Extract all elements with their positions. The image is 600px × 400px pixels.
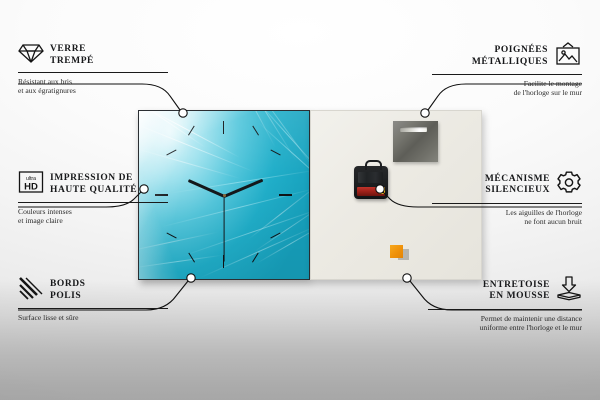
- callout-rule: [428, 309, 582, 310]
- callout-impression-haute-qualite[interactable]: ultra HD IMPRESSION DE HAUTE QUALITÉ Cou…: [18, 170, 168, 226]
- callout-title-line1: VERRE: [50, 44, 94, 56]
- callout-title-line1: BORDS: [50, 279, 85, 291]
- diamond-icon: [18, 42, 44, 69]
- callout-subtitle: Couleurs intenses et image claire: [18, 207, 168, 226]
- callout-rule: [432, 203, 582, 204]
- clock-mechanism-part: [354, 166, 388, 199]
- battery-part: [357, 187, 385, 196]
- callout-bords-polis[interactable]: BORDS POLIS Surface lisse et sûre: [18, 276, 168, 322]
- callout-title-line1: IMPRESSION DE: [50, 173, 137, 185]
- foam-spacer-arrow-icon: [556, 276, 582, 306]
- battery-plus-terminal: [379, 187, 385, 194]
- callout-title-line2: POLIS: [50, 291, 85, 303]
- callout-rule: [18, 308, 168, 309]
- callout-subtitle: Facilite le montage de l'horloge sur le …: [432, 79, 582, 98]
- polished-edges-icon: [18, 276, 44, 305]
- callout-title-line1: ENTRETOISE: [483, 280, 550, 292]
- callout-rule: [18, 72, 168, 73]
- callout-title-line1: POIGNÉES: [472, 45, 548, 57]
- callout-verre-trempe[interactable]: VERRE TREMPÉ Résistant aux bris et aux é…: [18, 42, 168, 96]
- picture-hanger-icon: [554, 42, 582, 71]
- callout-title-line2: MÉTALLIQUES: [472, 57, 548, 69]
- product-infographic: VERRE TREMPÉ Résistant aux bris et aux é…: [0, 0, 600, 400]
- svg-text:HD: HD: [24, 182, 38, 193]
- handle-slot: [400, 127, 427, 132]
- mechanism-hanging-loop: [365, 160, 382, 170]
- callout-rule: [432, 74, 582, 75]
- callout-mecanisme-silencieux[interactable]: MÉCANISME SILENCIEUX Les aiguilles de l'…: [432, 170, 582, 227]
- callout-title-line2: EN MOUSSE: [483, 291, 550, 303]
- foam-spacer-part: [390, 245, 403, 258]
- callout-subtitle: Permet de maintenir une distance uniform…: [428, 314, 582, 333]
- callout-subtitle: Les aiguilles de l'horloge ne font aucun…: [432, 208, 582, 227]
- ultra-hd-icon: ultra HD: [18, 170, 44, 199]
- callout-subtitle: Surface lisse et sûre: [18, 313, 168, 323]
- callout-poignees-metalliques[interactable]: POIGNÉES MÉTALLIQUES Facilite le montage…: [432, 42, 582, 98]
- callout-title-line2: SILENCIEUX: [485, 185, 550, 197]
- callout-entretoise-en-mousse[interactable]: ENTRETOISE EN MOUSSE Permet de maintenir…: [428, 276, 582, 333]
- mechanism-detail: [358, 172, 383, 183]
- callout-rule: [18, 202, 168, 203]
- product-image: [138, 110, 480, 280]
- callout-title-line1: MÉCANISME: [485, 174, 550, 186]
- callout-title-line2: TREMPÉ: [50, 56, 94, 68]
- gear-icon: [556, 170, 582, 200]
- callout-title-line2: HAUTE QUALITÉ: [50, 185, 137, 197]
- metal-handle-part: [393, 121, 438, 162]
- callout-subtitle: Résistant aux bris et aux égratignures: [18, 77, 168, 96]
